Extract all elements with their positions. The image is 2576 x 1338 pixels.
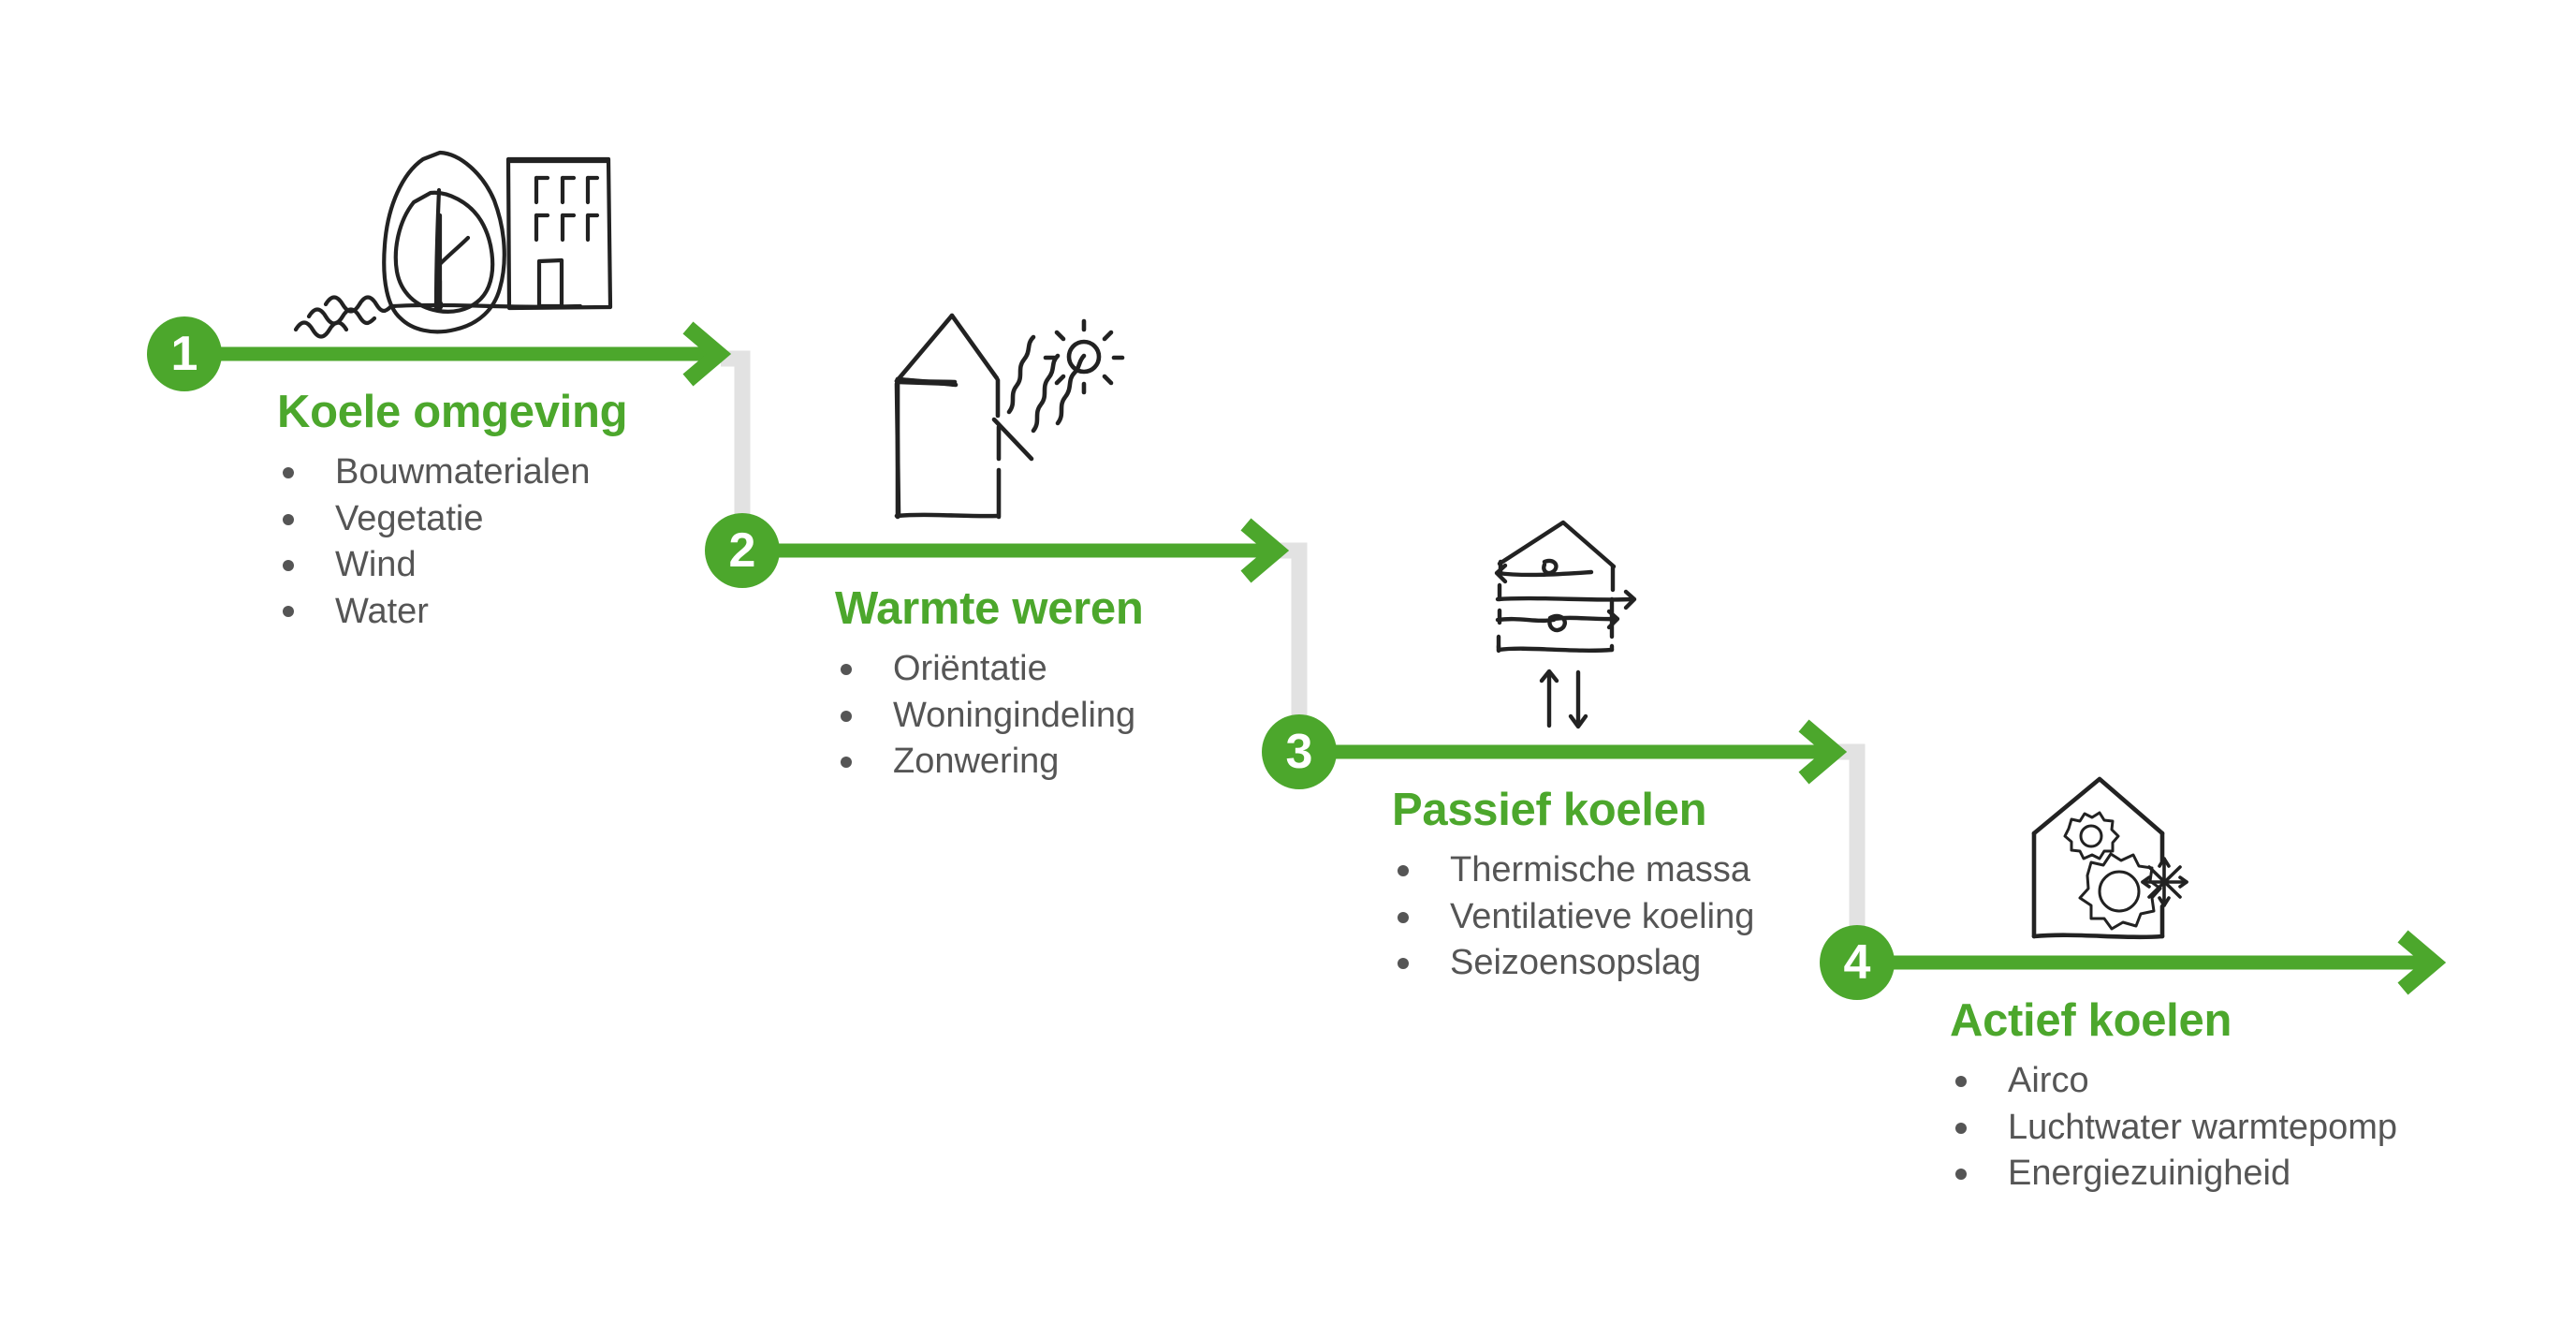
list-item: Ventilatieve koeling — [1392, 894, 1754, 940]
list-item-label: Luchtwater warmtepomp — [2008, 1108, 2397, 1147]
arrow-step-2 — [742, 524, 1277, 577]
list-item: Vegetatie — [277, 496, 627, 542]
bullet-icon — [283, 560, 294, 571]
step-list-1: Bouwmaterialen Vegetatie Wind Water — [277, 449, 627, 635]
step-number-2: 2 — [705, 513, 780, 588]
step-title-4: Actief koelen — [1950, 997, 2397, 1045]
house-sun-rays-sketch — [897, 316, 1122, 517]
list-item-label: Airco — [2008, 1061, 2089, 1100]
list-item-label: Seizoensopslag — [1450, 943, 1701, 982]
step-list-4: Airco Luchtwater warmtepomp Energiezuini… — [1950, 1058, 2397, 1197]
list-item: Water — [277, 589, 627, 635]
step-number-4: 4 — [1820, 925, 1895, 1000]
snowflake-icon — [2143, 859, 2187, 905]
bullet-icon — [841, 711, 852, 722]
step-number-1: 1 — [147, 316, 222, 391]
list-item: Woningindeling — [835, 693, 1144, 739]
list-item-label: Ventilatieve koeling — [1450, 897, 1754, 936]
arrow-step-3 — [1299, 726, 1835, 778]
step-list-2: Oriëntatie Woningindeling Zonwering — [835, 646, 1144, 785]
list-item: Bouwmaterialen — [277, 449, 627, 495]
list-item-label: Wind — [335, 545, 417, 584]
step-block-2: Warmte weren Oriëntatie Woningindeling Z… — [835, 585, 1144, 786]
list-item: Airco — [1950, 1058, 2397, 1104]
bullet-icon — [283, 606, 294, 617]
bullet-icon — [283, 514, 294, 525]
step-list-3: Thermische massa Ventilatieve koeling Se… — [1392, 847, 1754, 986]
bullet-icon — [1398, 865, 1409, 876]
list-item-label: Bouwmaterialen — [335, 452, 590, 492]
list-item: Luchtwater warmtepomp — [1950, 1105, 2397, 1151]
bullet-icon — [1955, 1076, 1967, 1087]
arrow-step-1 — [184, 328, 719, 380]
step-title-2: Warmte weren — [835, 585, 1144, 633]
tree-building-water-sketch — [296, 153, 610, 337]
list-item-label: Water — [335, 592, 429, 631]
list-item: Oriëntatie — [835, 646, 1144, 692]
step-title-1: Koele omgeving — [277, 389, 627, 436]
list-item: Zonwering — [835, 739, 1144, 785]
house-ventilation-airflow-sketch — [1497, 522, 1634, 727]
bullet-icon — [1955, 1169, 1967, 1180]
bullet-icon — [1398, 958, 1409, 969]
step-block-1: Koele omgeving Bouwmaterialen Vegetatie … — [277, 389, 627, 635]
gear-large — [2080, 854, 2160, 929]
bullet-icon — [1955, 1123, 1967, 1134]
diagram-canvas: 1 2 3 4 Koele omgeving Bouwmaterialen Ve… — [0, 0, 2576, 1338]
list-item: Energiezuinigheid — [1950, 1151, 2397, 1197]
list-item-label: Oriëntatie — [893, 649, 1047, 688]
step-title-3: Passief koelen — [1392, 787, 1754, 834]
list-item-label: Thermische massa — [1450, 850, 1750, 890]
list-item-label: Energiezuinigheid — [2008, 1154, 2291, 1193]
step-number-3: 3 — [1262, 714, 1337, 789]
bullet-icon — [841, 757, 852, 768]
step-block-3: Passief koelen Thermische massa Ventilat… — [1392, 787, 1754, 987]
arrow-step-4 — [1857, 936, 2434, 989]
list-item-label: Zonwering — [893, 742, 1059, 781]
list-item-label: Vegetatie — [335, 499, 483, 538]
step-block-4: Actief koelen Airco Luchtwater warmtepom… — [1950, 997, 2397, 1198]
list-item: Wind — [277, 542, 627, 588]
house-gears-snowflake-sketch — [2034, 779, 2187, 937]
bullet-icon — [1398, 912, 1409, 923]
list-item: Thermische massa — [1392, 847, 1754, 893]
bullet-icon — [841, 664, 852, 675]
gear-small — [2065, 813, 2118, 859]
list-item-label: Woningindeling — [893, 696, 1135, 735]
bullet-icon — [283, 467, 294, 478]
list-item: Seizoensopslag — [1392, 940, 1754, 986]
